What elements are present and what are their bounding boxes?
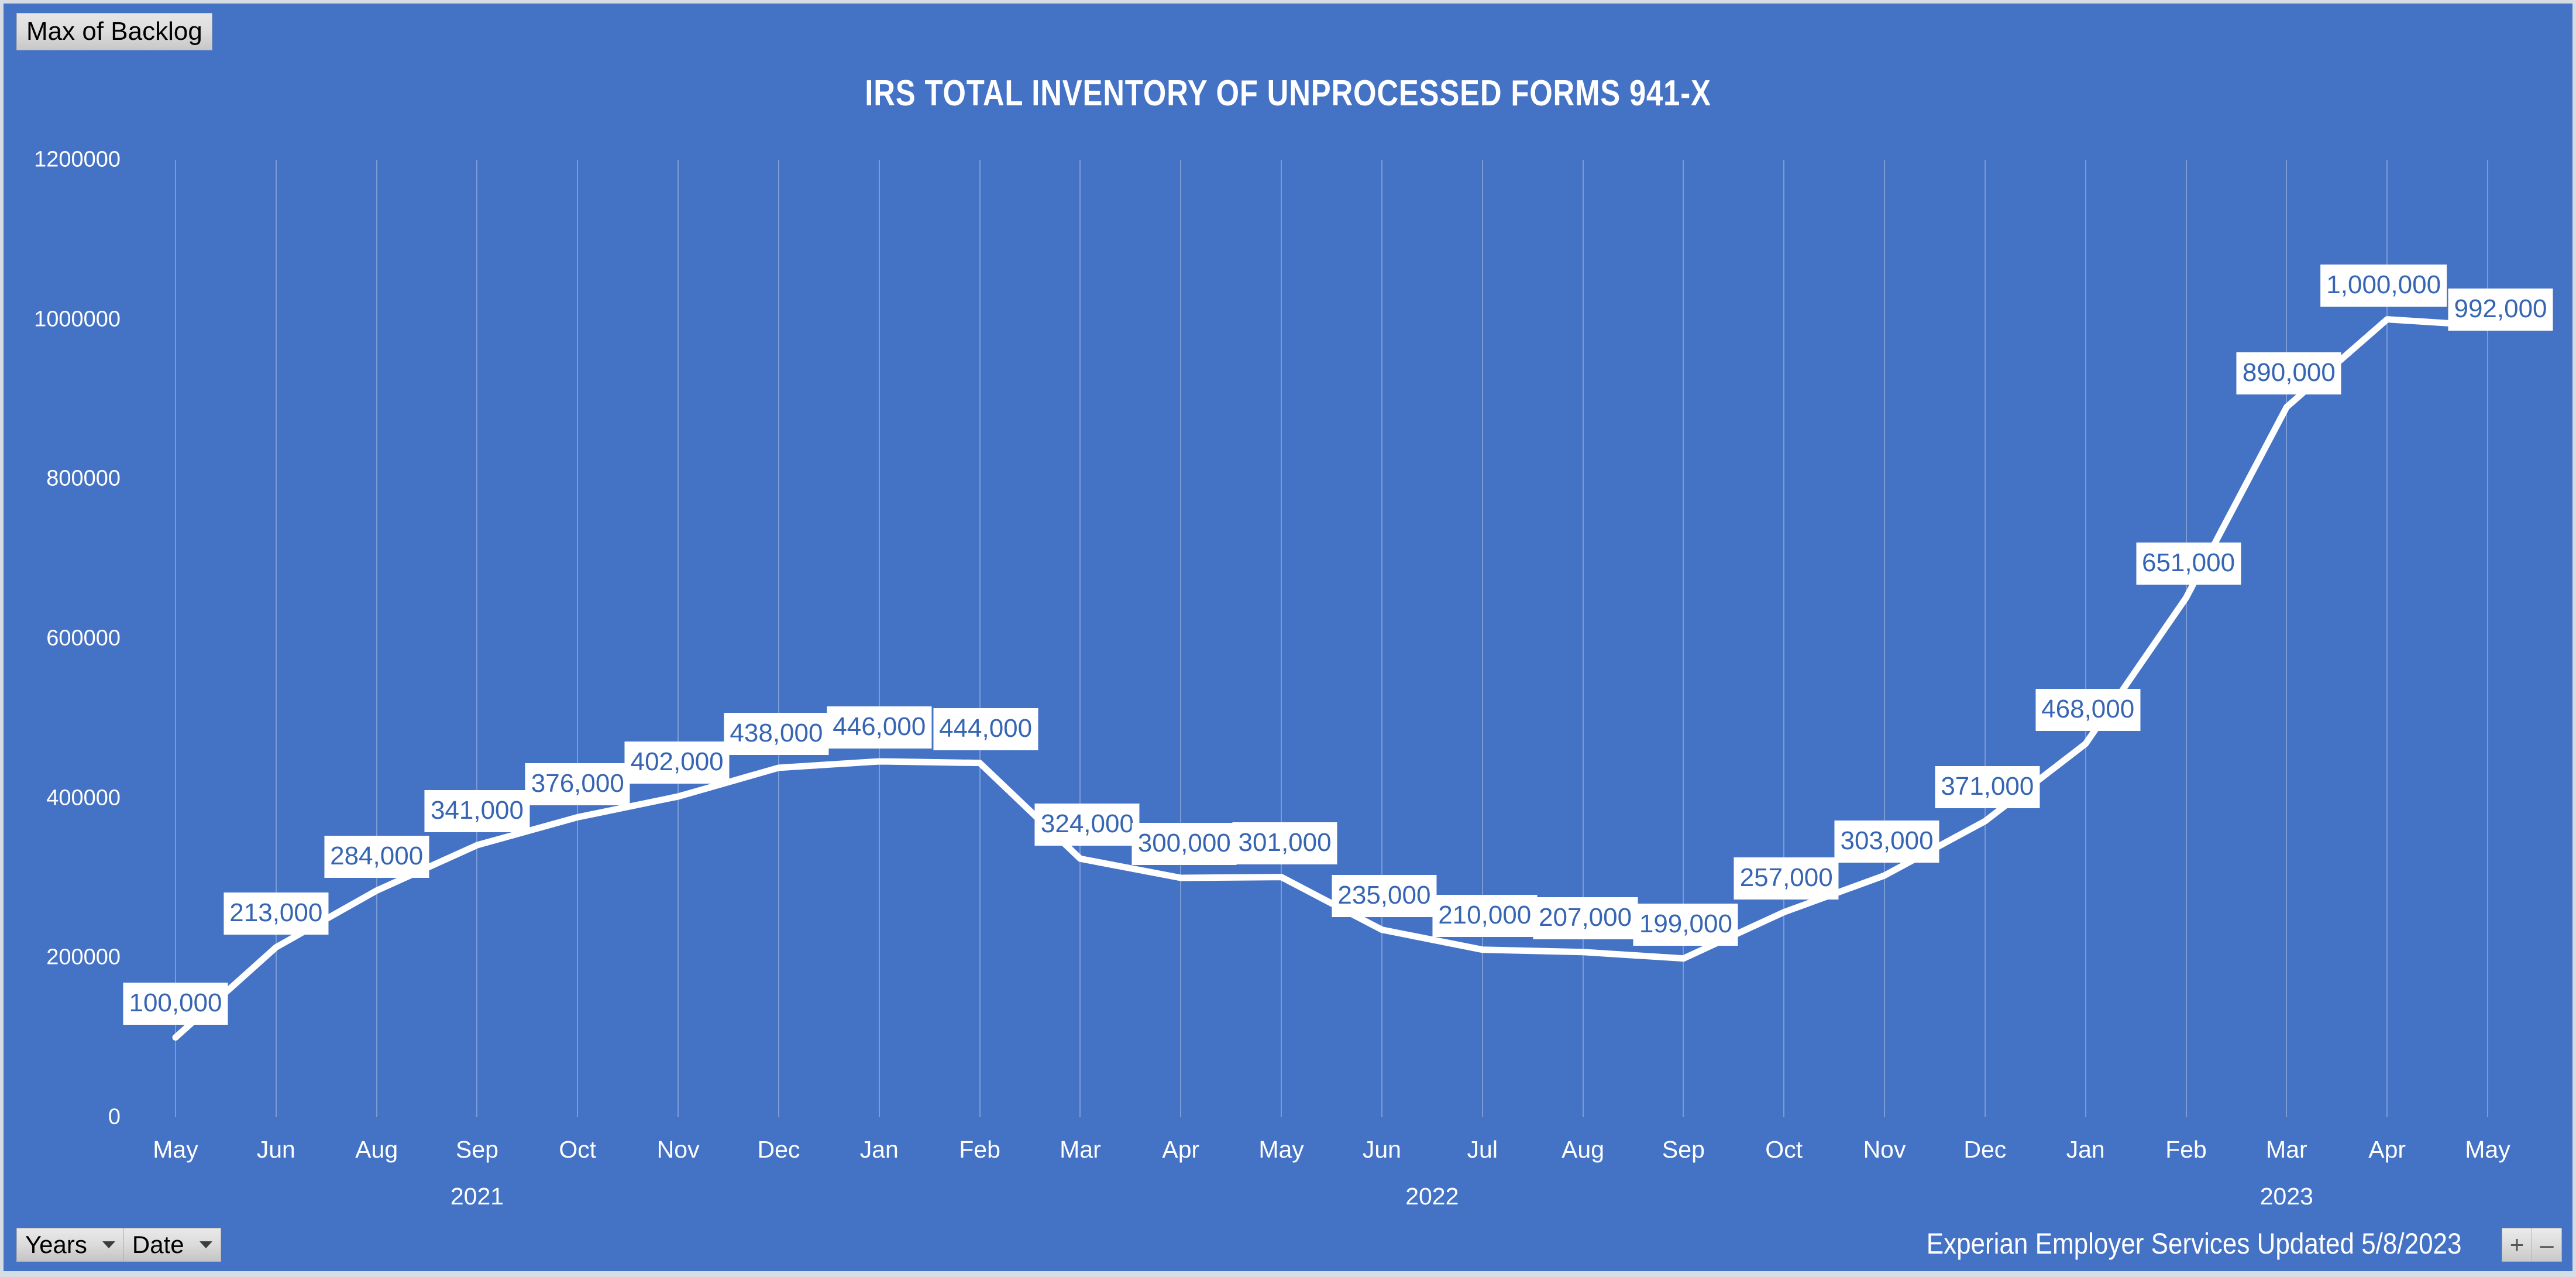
x-axis-tick-label: Jul xyxy=(1467,1136,1498,1163)
data-point-label: 371,000 xyxy=(1935,766,2040,808)
plot-area: 020000040000060000080000010000001200000 … xyxy=(4,4,2572,1271)
data-point-label: 402,000 xyxy=(625,742,730,784)
data-point-label: 213,000 xyxy=(223,892,328,935)
data-point-label: 324,000 xyxy=(1035,804,1140,846)
x-axis-tick-label: Oct xyxy=(1765,1136,1803,1163)
data-point-label: 376,000 xyxy=(525,763,630,805)
slicer-button-group: Years Date xyxy=(16,1228,221,1262)
gridline xyxy=(1180,160,1181,1117)
chart-canvas: Max of Backlog IRS TOTAL INVENTORY OF UN… xyxy=(4,4,2572,1271)
gridline xyxy=(1482,160,1483,1117)
x-axis-tick-label: Feb xyxy=(2165,1136,2207,1163)
data-point-label: 257,000 xyxy=(1734,857,1839,900)
workbook-window: Max of Backlog IRS TOTAL INVENTORY OF UN… xyxy=(0,0,2576,1277)
data-point-label: 284,000 xyxy=(324,836,429,878)
x-axis-tick-label: Apr xyxy=(1162,1136,1199,1163)
gridline xyxy=(1281,160,1282,1117)
x-axis-tick-label: Dec xyxy=(757,1136,800,1163)
x-axis-tick-label: Dec xyxy=(1963,1136,2006,1163)
gridline xyxy=(879,160,880,1117)
x-axis-tick-label: Oct xyxy=(559,1136,596,1163)
x-axis-tick-label: Apr xyxy=(2368,1136,2406,1163)
gridline xyxy=(376,160,377,1117)
x-axis-tick-label: Mar xyxy=(2266,1136,2307,1163)
x-axis-tick-label: Jun xyxy=(1363,1136,1401,1163)
data-point-label: 446,000 xyxy=(827,706,931,749)
data-point-label: 890,000 xyxy=(2237,352,2341,394)
gridline xyxy=(476,160,477,1117)
x-axis-year-group-label: 2023 xyxy=(2260,1183,2313,1210)
gridline xyxy=(1985,160,1986,1117)
data-point-label: 210,000 xyxy=(1432,895,1537,937)
data-point-label: 444,000 xyxy=(933,708,1038,750)
data-point-label: 1,000,000 xyxy=(2320,265,2447,307)
x-axis-tick-label: May xyxy=(153,1136,198,1163)
x-axis-year-group-label: 2022 xyxy=(1405,1183,1459,1210)
gridline xyxy=(276,160,277,1117)
data-point-label: 992,000 xyxy=(2448,289,2553,331)
chevron-down-icon xyxy=(200,1241,212,1248)
x-axis-tick-label: Aug xyxy=(355,1136,398,1163)
data-point-label: 300,000 xyxy=(1132,823,1237,865)
gridline xyxy=(1583,160,1584,1117)
chevron-down-icon xyxy=(102,1241,115,1248)
x-axis-tick-label: Nov xyxy=(1863,1136,1906,1163)
zoom-in-button[interactable]: + xyxy=(2502,1228,2532,1262)
x-axis-tick-label: Sep xyxy=(1662,1136,1705,1163)
gridline xyxy=(1783,160,1784,1117)
gridline xyxy=(1683,160,1684,1117)
data-point-label: 207,000 xyxy=(1533,897,1638,939)
x-axis-tick-label: Jan xyxy=(2066,1136,2105,1163)
x-axis-tick-label: May xyxy=(2465,1136,2510,1163)
gridline xyxy=(2286,160,2287,1117)
x-axis-year-group-label: 2021 xyxy=(450,1183,504,1210)
data-point-label: 651,000 xyxy=(2136,543,2241,585)
x-axis-tick-label: Sep xyxy=(456,1136,498,1163)
x-axis-tick-label: Jan xyxy=(860,1136,899,1163)
years-dropdown-button[interactable]: Years xyxy=(16,1228,124,1262)
gridline xyxy=(1079,160,1081,1117)
years-dropdown-label: Years xyxy=(25,1231,87,1259)
gridline xyxy=(979,160,981,1117)
data-point-label: 303,000 xyxy=(1835,821,1939,863)
x-axis-tick-label: Feb xyxy=(959,1136,1000,1163)
gridline xyxy=(778,160,779,1117)
data-point-label: 100,000 xyxy=(123,983,228,1025)
data-point-label: 199,000 xyxy=(1633,904,1738,946)
x-axis-tick-label: Jun xyxy=(257,1136,295,1163)
x-axis-tick-label: Mar xyxy=(1060,1136,1101,1163)
x-axis-tick-label: Aug xyxy=(1562,1136,1604,1163)
gridline xyxy=(1884,160,1885,1117)
x-axis-tick-label: Nov xyxy=(657,1136,700,1163)
gridline xyxy=(677,160,679,1117)
data-point-label: 301,000 xyxy=(1233,822,1337,864)
data-point-label: 235,000 xyxy=(1332,875,1436,917)
zoom-controls: + – xyxy=(2502,1228,2562,1262)
series-line-layer xyxy=(4,4,2572,1271)
series-line xyxy=(176,320,2488,1038)
gridline xyxy=(2085,160,2086,1117)
gridline xyxy=(1381,160,1382,1117)
data-point-label: 341,000 xyxy=(425,790,529,832)
x-axis-tick-label: May xyxy=(1258,1136,1304,1163)
data-point-label: 438,000 xyxy=(724,713,828,755)
source-attribution: Experian Employer Services Updated 5/8/2… xyxy=(1926,1227,2461,1261)
date-dropdown-label: Date xyxy=(132,1231,184,1259)
date-dropdown-button[interactable]: Date xyxy=(124,1228,221,1262)
gridline xyxy=(2186,160,2187,1117)
gridline xyxy=(175,160,176,1117)
gridline xyxy=(577,160,578,1117)
zoom-out-button[interactable]: – xyxy=(2532,1228,2562,1262)
data-point-label: 468,000 xyxy=(2035,689,2140,731)
